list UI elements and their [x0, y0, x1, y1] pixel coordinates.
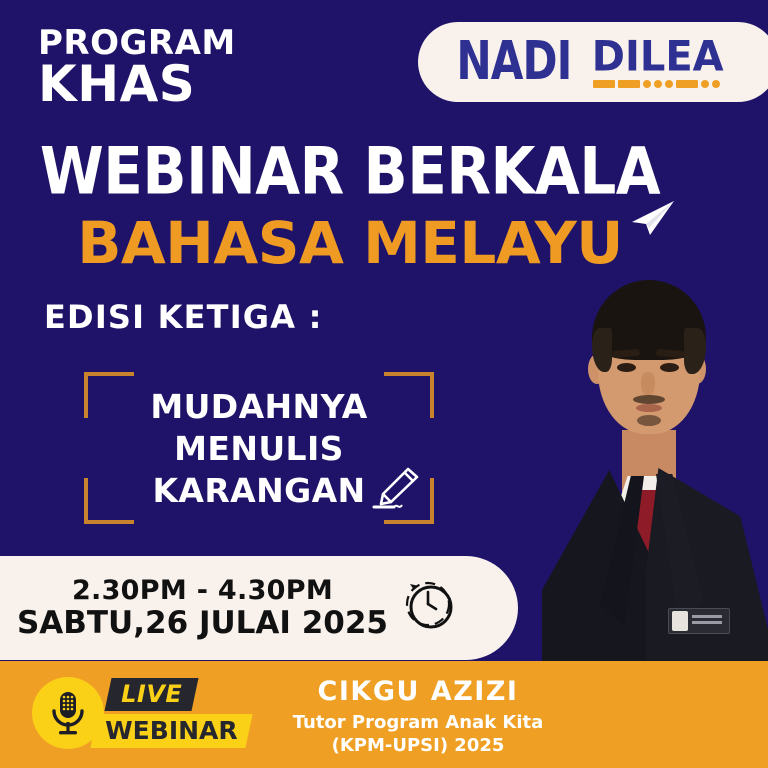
microphone-icon — [47, 689, 89, 737]
photo-eye-left — [617, 363, 636, 372]
footer-bar: LIVE WEBINAR CIKGU AZIZI Tutor Program A… — [0, 661, 768, 768]
schedule-inner: 2.30PM - 4.30PM SABTU,26 JULAI 2025 — [17, 575, 458, 642]
photo-mouth — [636, 404, 662, 412]
speaker-role-line1: Tutor Program Anak Kita — [268, 711, 568, 734]
brand-logo-pill: NADI DILEA — [418, 22, 768, 102]
schedule-texts: 2.30PM - 4.30PM SABTU,26 JULAI 2025 — [17, 575, 388, 642]
page-title-line2-row: BAHASA MELAYU — [77, 214, 623, 272]
webinar-label: WEBINAR — [105, 716, 238, 745]
topic-box: MUDAHNYA MENULIS KARANGAN — [84, 372, 434, 524]
schedule-panel: 2.30PM - 4.30PM SABTU,26 JULAI 2025 — [0, 556, 518, 660]
live-webinar-words: LIVE WEBINAR — [94, 678, 249, 748]
page-title: WEBINAR BERKALA BAHASA MELAYU — [0, 142, 700, 272]
speaker-credits: CIKGU AZIZI Tutor Program Anak Kita (KPM… — [268, 677, 568, 757]
topic-text: MUDAHNYA MENULIS KARANGAN — [84, 386, 434, 513]
live-webinar-badge: LIVE WEBINAR — [32, 677, 249, 749]
dilea-logo: DILEA — [592, 37, 724, 88]
page-title-line2: BAHASA MELAYU — [77, 209, 623, 277]
live-tag: LIVE — [104, 678, 198, 711]
clock-icon — [402, 578, 458, 634]
nadi-wordmark: NADI — [456, 35, 571, 89]
badge-crest-icon — [672, 611, 688, 631]
topic-line-3-row: KARANGAN — [152, 470, 365, 512]
webinar-tag: WEBINAR — [90, 714, 252, 748]
schedule-date: SABTU,26 JULAI 2025 — [17, 606, 388, 642]
program-label: PROGRAM KHAS — [38, 26, 236, 109]
webinar-poster: PROGRAM KHAS NADI DILEA WEBINAR BERKALA … — [0, 0, 768, 768]
speaker-name: CIKGU AZIZI — [268, 677, 568, 707]
page-title-line1: WEBINAR BERKALA — [0, 139, 700, 204]
pencil-icon — [372, 464, 424, 512]
photo-chin-hair — [637, 415, 661, 426]
photo-name-badge — [668, 608, 730, 634]
dilea-wordmark: DILEA — [592, 36, 724, 78]
edition-label: EDISI KETIGA : — [44, 298, 323, 336]
photo-moustache — [633, 395, 665, 404]
schedule-time: 2.30PM - 4.30PM — [17, 575, 388, 606]
paper-plane-icon — [629, 198, 677, 238]
photo-eye-right — [660, 363, 679, 372]
live-label: LIVE — [121, 680, 182, 708]
badge-text-lines — [692, 615, 722, 627]
program-label-line2: KHAS — [38, 59, 236, 109]
topic-line-3: KARANGAN — [152, 471, 365, 510]
topic-line-1: MUDAHNYA — [84, 386, 434, 428]
speaker-role-line2: (KPM-UPSI) 2025 — [268, 734, 568, 757]
photo-nose — [641, 372, 655, 396]
